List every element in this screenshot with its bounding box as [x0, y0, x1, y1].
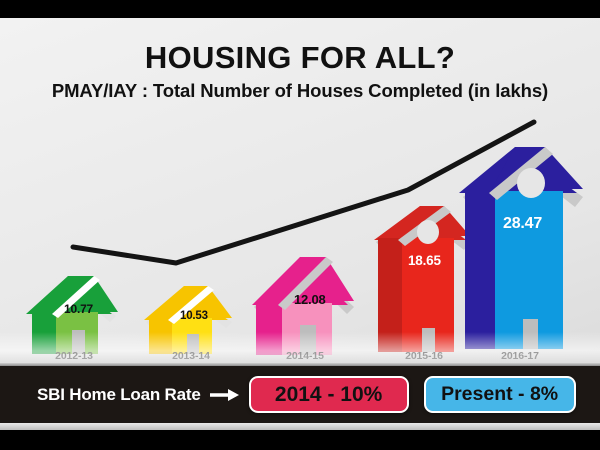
top-black-bar: [0, 0, 600, 18]
house-value-2014-15: 12.08: [294, 292, 326, 307]
round-window-icon: [417, 220, 439, 244]
bottom-black-bar: [0, 430, 600, 450]
house-year-2014-15: 2014-15: [250, 350, 360, 362]
house-year-2012-13: 2012-13: [24, 350, 124, 362]
house-year-2016-17: 2016-17: [460, 350, 580, 362]
rate-2014-pill[interactable]: 2014 - 10%: [249, 376, 409, 413]
house-value-2016-17: 28.47: [503, 215, 542, 233]
banner-bottom-divider: [0, 423, 600, 430]
house-shape-red: [374, 206, 470, 352]
loan-rate-label: SBI Home Loan Rate: [37, 385, 201, 405]
loan-rate-banner: SBI Home Loan Rate 2014 - 10% Present - …: [0, 366, 600, 423]
house-year-2013-14: 2013-14: [141, 350, 241, 362]
house-value-2012-13: 10.77: [64, 302, 93, 316]
house-value-2013-14: 10.53: [180, 310, 208, 322]
house-bar-2013-14: 10.53: [142, 280, 240, 360]
house-bar-2012-13: 10.77: [24, 268, 124, 360]
house-value-2015-16: 18.65: [408, 253, 441, 268]
chart-panel: HOUSING FOR ALL? PMAY/IAY : Total Number…: [0, 18, 600, 366]
infographic-root: HOUSING FOR ALL? PMAY/IAY : Total Number…: [0, 0, 600, 450]
house-bars-group: 10.77 2012-13 10.53: [0, 18, 600, 366]
rate-present-pill[interactable]: Present - 8%: [424, 376, 576, 413]
house-shape-blue: [459, 147, 583, 349]
house-bar-2014-15: 12.08: [250, 251, 360, 361]
right-arrow-icon: [210, 388, 240, 402]
round-window-icon: [517, 168, 545, 198]
house-bar-2016-17: 28.47: [457, 143, 589, 359]
